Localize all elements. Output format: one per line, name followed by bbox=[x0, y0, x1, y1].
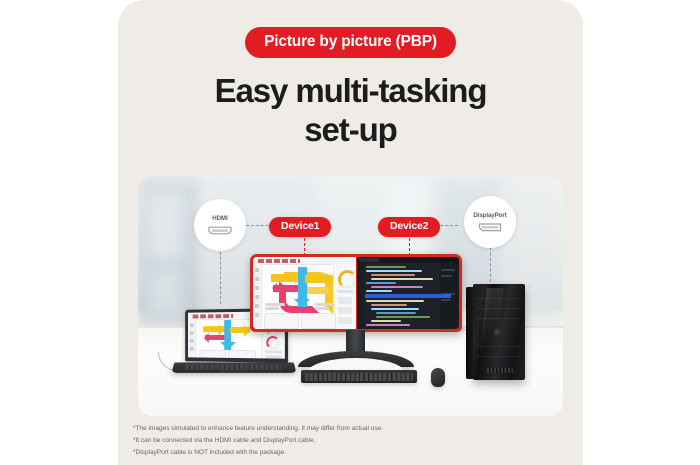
product-photo-panel: HDMI DisplayPort bbox=[138, 176, 563, 416]
footnote-2: *It can be connected via the HDMI cable … bbox=[133, 437, 533, 446]
displayport-label: DisplayPort bbox=[473, 212, 506, 219]
feature-badge: Picture by picture (PBP) bbox=[245, 27, 456, 58]
headline-line-2: set-up bbox=[118, 111, 583, 150]
dashed-line-device1-to-screen bbox=[304, 238, 305, 256]
headline-line-1: Easy multi-tasking bbox=[118, 72, 583, 111]
callout-device2[interactable]: Device2 bbox=[378, 217, 440, 237]
dashed-line-displayport-to-tower bbox=[490, 242, 491, 282]
badge-row: Picture by picture (PBP) bbox=[118, 27, 583, 58]
callout-displayport[interactable]: DisplayPort bbox=[464, 196, 516, 248]
screenshot-root: Picture by picture (PBP) Easy multi-task… bbox=[0, 0, 700, 465]
dashed-line-device2-to-screen bbox=[409, 238, 410, 256]
footnotes: *The images simulated to enhance feature… bbox=[133, 425, 533, 461]
page-title: Easy multi-tasking set-up bbox=[118, 72, 583, 150]
callout-device1[interactable]: Device1 bbox=[269, 217, 331, 237]
promo-card: Picture by picture (PBP) Easy multi-task… bbox=[118, 0, 583, 465]
hdmi-label: HDMI bbox=[212, 215, 227, 222]
dashed-line-hdmi-to-laptop bbox=[220, 242, 221, 304]
hdmi-port-icon bbox=[207, 225, 233, 236]
footnote-1: *The images simulated to enhance feature… bbox=[133, 425, 533, 434]
displayport-port-icon bbox=[477, 222, 503, 233]
footnote-3: *DisplayPort cable is NOT included with … bbox=[133, 449, 533, 458]
callout-hdmi[interactable]: HDMI bbox=[194, 199, 246, 251]
callout-layer: HDMI DisplayPort bbox=[138, 176, 563, 416]
